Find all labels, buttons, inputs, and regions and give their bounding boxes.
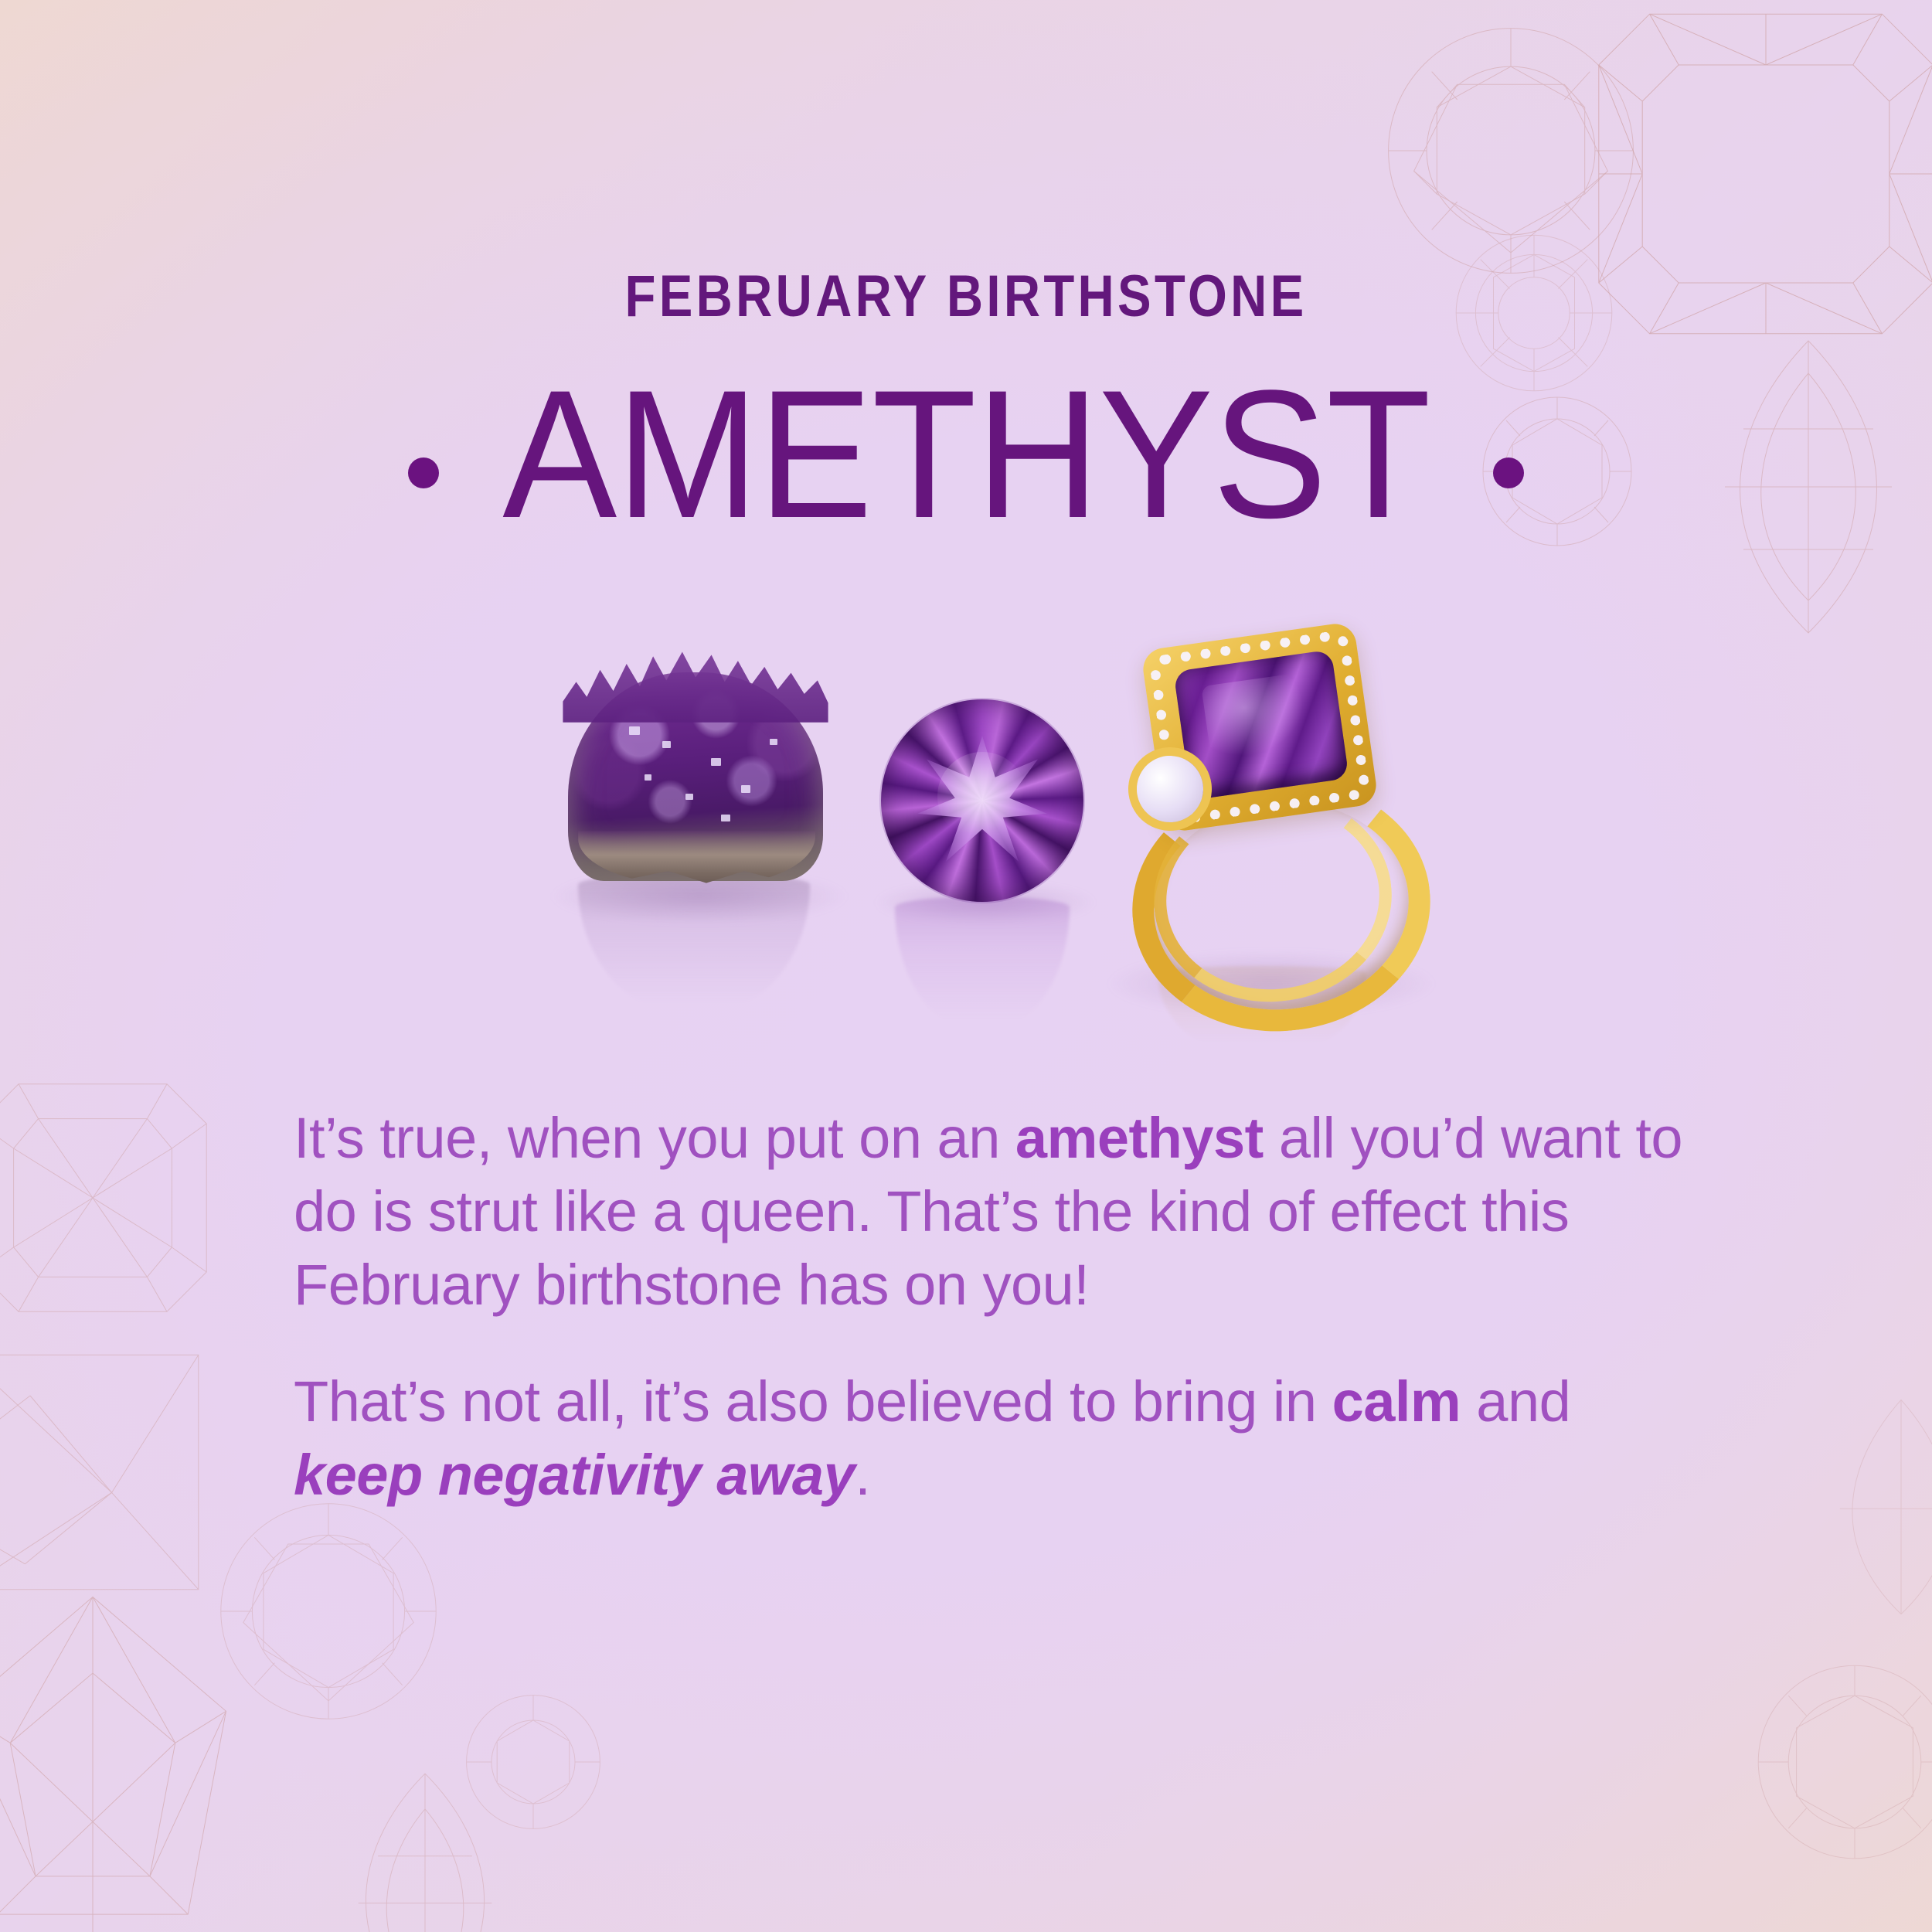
p2-bold-keep-negativity-away: keep negativity away [294, 1443, 855, 1507]
bullet-dot-icon-left [408, 457, 439, 488]
marquise-outline-icon [325, 1770, 526, 1932]
marquise-outline-icon [1816, 1391, 1932, 1623]
round-brilliant-outline-icon [464, 1692, 603, 1832]
page-title-text: AMETHYST [502, 363, 1430, 546]
bullet-dot-icon-right [1493, 457, 1524, 488]
round-brilliant-outline-icon [216, 1499, 440, 1723]
p1-bold-amethyst: amethyst [1015, 1106, 1264, 1170]
p2-part2: and [1461, 1369, 1570, 1434]
geode-reflection [578, 873, 810, 1016]
kicker-text: FEBRUARY BIRTHSTONE [135, 263, 1797, 330]
p2-part1: That’s not all, it’s also believed to br… [294, 1369, 1332, 1434]
poster-canvas: FEBRUARY BIRTHSTONE AMETHYST [0, 0, 1932, 1932]
round-stone-reflection [895, 896, 1070, 1032]
kite-cut-outline-icon [0, 1345, 209, 1600]
round-brilliant-outline-icon [1383, 23, 1638, 278]
round-brilliant-outline-icon [1754, 1662, 1932, 1862]
p2-bold-calm: calm [1332, 1369, 1461, 1434]
pentagon-crystal-outline-icon [0, 1584, 255, 1932]
p1-part1: It’s true, when you put on an [294, 1106, 1015, 1170]
p2-part3: . [855, 1443, 870, 1507]
round-cut-amethyst-image [881, 699, 1083, 902]
body-paragraph-2: That’s not all, it’s also believed to br… [294, 1365, 1685, 1512]
raw-amethyst-geode-image [568, 672, 823, 881]
gemstone-showcase [0, 641, 1932, 1005]
amethyst-gold-ring-image [1124, 634, 1406, 989]
emerald-cut-outline-icon [0, 1074, 216, 1321]
body-copy: It’s true, when you put on an amethyst a… [294, 1101, 1685, 1512]
body-paragraph-1: It’s true, when you put on an amethyst a… [294, 1101, 1685, 1321]
page-title: AMETHYST [0, 363, 1932, 546]
